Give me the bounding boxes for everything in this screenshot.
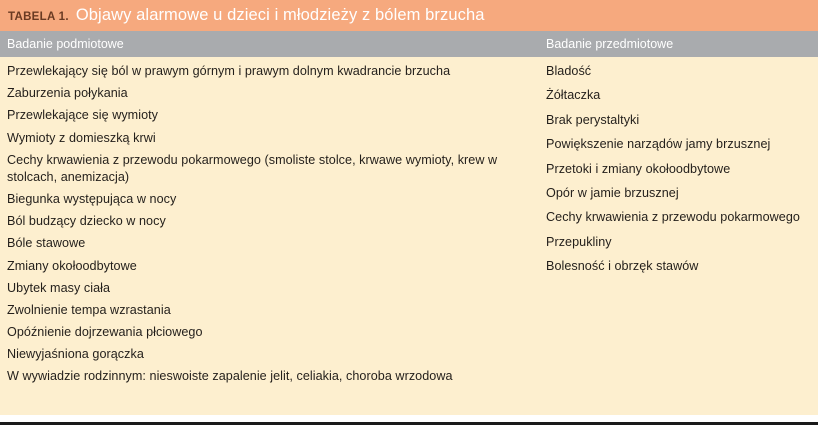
list-item: Ból budzący dziecko w nocy <box>7 213 516 230</box>
column-subjective: Przewlekający się ból w prawym górnym i … <box>0 57 530 415</box>
list-item: Cechy krwawienia z przewodu pokarmowego <box>546 209 810 226</box>
list-item: Przepukliny <box>546 234 810 251</box>
list-item: Bóle stawowe <box>7 235 516 252</box>
list-item: Niewyjaśniona gorączka <box>7 346 516 363</box>
list-item: Zwolnienie tempa wzrastania <box>7 302 516 319</box>
alarm-symptoms-table: Tabela 1. Objawy alarmowe u dzieci i mło… <box>0 0 818 425</box>
list-item: W wywiadzie rodzinnym: nieswoiste zapale… <box>7 368 516 385</box>
list-item: Opóźnienie dojrzewania płciowego <box>7 324 516 341</box>
list-item: Biegunka występująca w nocy <box>7 191 516 208</box>
list-item: Żółtaczka <box>546 87 810 104</box>
table-body: Przewlekający się ból w prawym górnym i … <box>0 57 818 415</box>
bottom-spacer <box>0 415 818 422</box>
list-item: Brak perystaltyki <box>546 112 810 129</box>
list-item: Opór w jamie brzusznej <box>546 185 810 202</box>
list-item: Wymioty z domieszką krwi <box>7 130 516 147</box>
list-item: Zmiany okołoodbytowe <box>7 258 516 275</box>
column-header-subjective: Badanie podmiotowe <box>0 37 530 51</box>
list-item: Przewlekające się wymioty <box>7 107 516 124</box>
column-header-objective: Badanie przedmiotowe <box>530 37 818 51</box>
list-item: Bolesność i obrzęk stawów <box>546 258 810 275</box>
list-item: Powiększenie narządów jamy brzusznej <box>546 136 810 153</box>
list-item: Bladość <box>546 63 810 80</box>
list-item: Przewlekający się ból w prawym górnym i … <box>7 63 516 80</box>
column-header-row: Badanie podmiotowe Badanie przedmiotowe <box>0 31 818 57</box>
column-objective: Bladość Żółtaczka Brak perystaltyki Powi… <box>530 57 818 415</box>
list-item: Cechy krwawienia z przewodu pokarmowego … <box>7 152 516 186</box>
table-title-bar: Tabela 1. Objawy alarmowe u dzieci i mło… <box>0 0 818 31</box>
list-item: Zaburzenia połykania <box>7 85 516 102</box>
list-item: Przetoki i zmiany okołoodbytowe <box>546 161 810 178</box>
list-item: Ubytek masy ciała <box>7 280 516 297</box>
table-number-label: Tabela 1. <box>8 11 69 23</box>
table-title: Objawy alarmowe u dzieci i młodzieży z b… <box>76 6 485 25</box>
